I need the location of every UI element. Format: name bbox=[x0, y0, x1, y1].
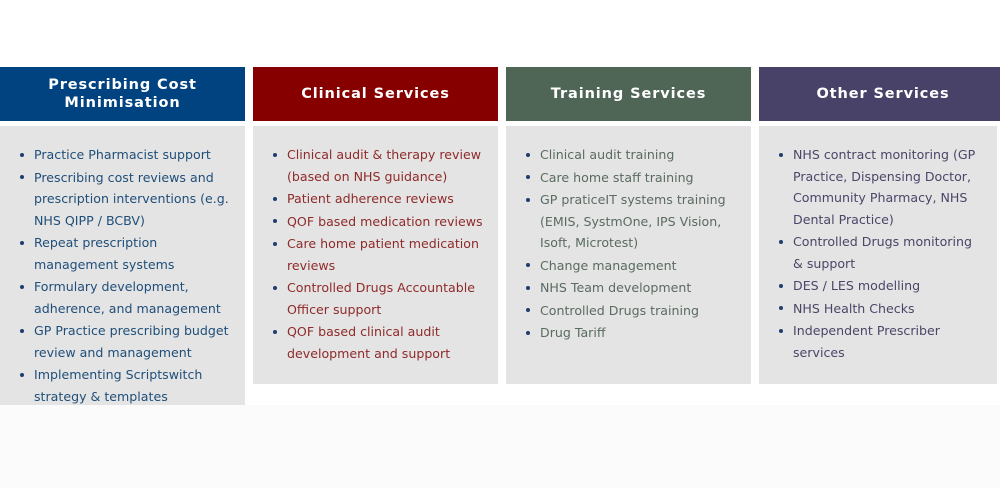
column-body-prescribing-cost-minimisation: Practice Pharmacist support Prescribing … bbox=[0, 126, 245, 424]
list-item: Drug Tariff bbox=[520, 322, 737, 344]
column-header-prescribing-cost-minimisation: Prescribing Cost Minimisation bbox=[0, 67, 245, 121]
list-item: Controlled Drugs Accountable Officer sup… bbox=[267, 277, 484, 320]
list-item-label: Clinical audit & therapy review (based o… bbox=[287, 147, 481, 184]
list-item: NHS Team development bbox=[520, 277, 737, 299]
service-columns: Prescribing Cost Minimisation Practice P… bbox=[0, 67, 1000, 424]
bullet-icon bbox=[779, 284, 783, 288]
service-column-prescribing-cost-minimisation: Prescribing Cost Minimisation Practice P… bbox=[0, 67, 245, 424]
list-item: Independent Prescriber services bbox=[773, 320, 983, 363]
bullet-icon bbox=[526, 263, 530, 267]
list-item: GP praticeIT systems training (EMIS, Sys… bbox=[520, 189, 737, 254]
list-item: Change management bbox=[520, 255, 737, 277]
bottom-background-band bbox=[0, 405, 1000, 488]
top-spacer bbox=[0, 0, 1000, 67]
bullet-icon bbox=[526, 198, 530, 202]
bullet-icon bbox=[20, 175, 24, 179]
bullet-icon bbox=[273, 330, 277, 334]
service-column-training-services: Training Services Clinical audit trainin… bbox=[506, 67, 751, 384]
list-item-label: Controlled Drugs training bbox=[540, 303, 699, 318]
bullet-icon bbox=[779, 329, 783, 333]
list-item-label: Repeat prescription management systems bbox=[34, 235, 174, 272]
service-list-clinical-services: Clinical audit & therapy review (based o… bbox=[267, 144, 484, 364]
list-item-label: Practice Pharmacist support bbox=[34, 147, 211, 162]
list-item-label: QOF based clinical audit development and… bbox=[287, 324, 450, 361]
bullet-icon bbox=[526, 331, 530, 335]
list-item-label: NHS Team development bbox=[540, 280, 691, 295]
list-item: Formulary development, adherence, and ma… bbox=[14, 276, 231, 319]
service-list-training-services: Clinical audit training Care home staff … bbox=[520, 144, 737, 344]
list-item-label: Change management bbox=[540, 258, 677, 273]
list-item: Implementing Scriptswitch strategy & tem… bbox=[14, 364, 231, 407]
service-column-other-services: Other Services NHS contract monitoring (… bbox=[759, 67, 1000, 384]
list-item: QOF based medication reviews bbox=[267, 211, 484, 233]
bullet-icon bbox=[20, 153, 24, 157]
bullet-icon bbox=[779, 153, 783, 157]
column-body-clinical-services: Clinical audit & therapy review (based o… bbox=[253, 126, 498, 384]
list-item: QOF based clinical audit development and… bbox=[267, 321, 484, 364]
bullet-icon bbox=[273, 153, 277, 157]
list-item: NHS Health Checks bbox=[773, 298, 983, 320]
list-item-label: Care home staff training bbox=[540, 170, 694, 185]
bullet-icon bbox=[273, 242, 277, 246]
list-item-label: Independent Prescriber services bbox=[793, 323, 940, 360]
bullet-icon bbox=[779, 240, 783, 244]
list-item-label: Controlled Drugs Accountable Officer sup… bbox=[287, 280, 475, 317]
bullet-icon bbox=[526, 286, 530, 290]
column-header-clinical-services: Clinical Services bbox=[253, 67, 498, 121]
column-body-training-services: Clinical audit training Care home staff … bbox=[506, 126, 751, 384]
list-item-label: Drug Tariff bbox=[540, 325, 606, 340]
list-item: Controlled Drugs training bbox=[520, 300, 737, 322]
list-item: Patient adherence reviews bbox=[267, 188, 484, 210]
bullet-icon bbox=[273, 197, 277, 201]
column-header-other-services: Other Services bbox=[759, 67, 1000, 121]
service-column-clinical-services: Clinical Services Clinical audit & thera… bbox=[253, 67, 498, 384]
list-item: NHS contract monitoring (GP Practice, Di… bbox=[773, 144, 983, 230]
bullet-icon bbox=[20, 373, 24, 377]
list-item: Prescribing cost reviews and prescriptio… bbox=[14, 167, 231, 232]
service-list-prescribing-cost-minimisation: Practice Pharmacist support Prescribing … bbox=[14, 144, 231, 407]
services-overview-page: Prescribing Cost Minimisation Practice P… bbox=[0, 0, 1000, 488]
list-item: Clinical audit & therapy review (based o… bbox=[267, 144, 484, 187]
bullet-icon bbox=[20, 241, 24, 245]
list-item-label: Implementing Scriptswitch strategy & tem… bbox=[34, 367, 202, 404]
column-body-other-services: NHS contract monitoring (GP Practice, Di… bbox=[759, 126, 997, 384]
list-item-label: Clinical audit training bbox=[540, 147, 674, 162]
bullet-icon bbox=[526, 153, 530, 157]
list-item-label: Formulary development, adherence, and ma… bbox=[34, 279, 221, 316]
list-item-label: Patient adherence reviews bbox=[287, 191, 454, 206]
bullet-icon bbox=[779, 306, 783, 310]
list-item-label: DES / LES modelling bbox=[793, 278, 920, 293]
bullet-icon bbox=[526, 175, 530, 179]
list-item: Repeat prescription management systems bbox=[14, 232, 231, 275]
bullet-icon bbox=[273, 286, 277, 290]
list-item: DES / LES modelling bbox=[773, 275, 983, 297]
list-item: GP Practice prescribing budget review an… bbox=[14, 320, 231, 363]
list-item: Practice Pharmacist support bbox=[14, 144, 231, 166]
list-item: Clinical audit training bbox=[520, 144, 737, 166]
bullet-icon bbox=[20, 285, 24, 289]
column-header-training-services: Training Services bbox=[506, 67, 751, 121]
list-item-label: QOF based medication reviews bbox=[287, 214, 483, 229]
service-list-other-services: NHS contract monitoring (GP Practice, Di… bbox=[773, 144, 983, 363]
list-item: Controlled Drugs monitoring & support bbox=[773, 231, 983, 274]
list-item-label: Prescribing cost reviews and prescriptio… bbox=[34, 170, 229, 228]
list-item-label: NHS contract monitoring (GP Practice, Di… bbox=[793, 147, 975, 227]
list-item-label: Care home patient medication reviews bbox=[287, 236, 479, 273]
list-item-label: NHS Health Checks bbox=[793, 301, 915, 316]
bullet-icon bbox=[273, 219, 277, 223]
list-item: Care home staff training bbox=[520, 167, 737, 189]
bullet-icon bbox=[20, 329, 24, 333]
bullet-icon bbox=[526, 308, 530, 312]
list-item-label: Controlled Drugs monitoring & support bbox=[793, 234, 972, 271]
list-item-label: GP Practice prescribing budget review an… bbox=[34, 323, 229, 360]
list-item-label: GP praticeIT systems training (EMIS, Sys… bbox=[540, 192, 726, 250]
list-item: Care home patient medication reviews bbox=[267, 233, 484, 276]
